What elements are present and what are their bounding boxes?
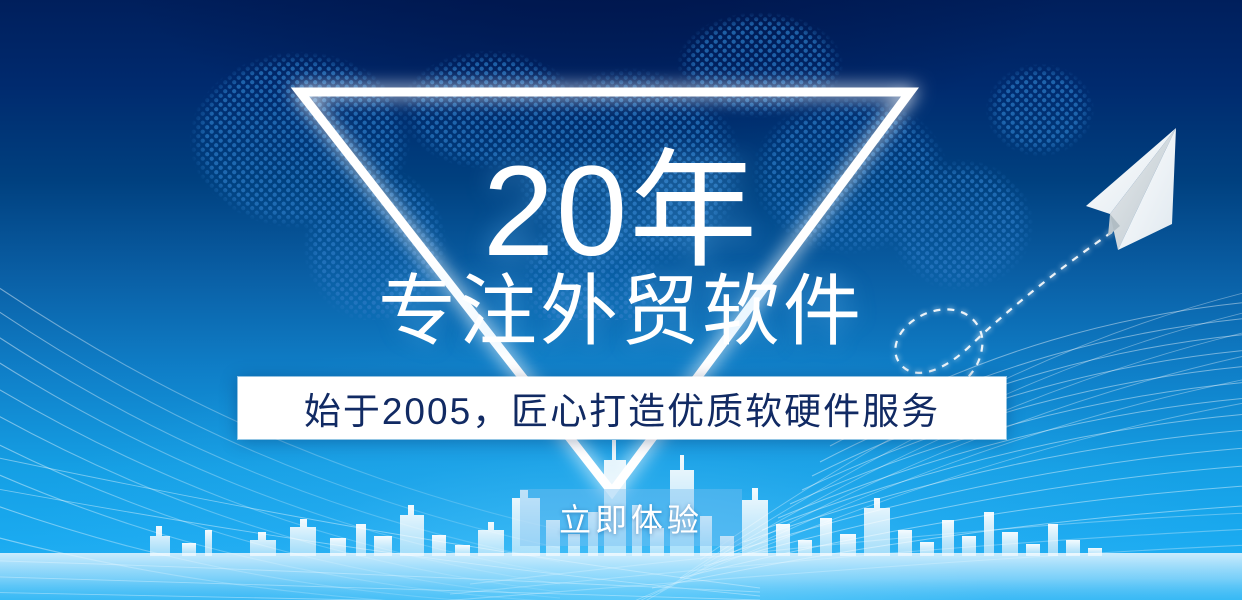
try-now-button-label: 立即体验 <box>559 495 703 541</box>
headline-subtitle: 专注外贸软件 <box>0 272 1242 350</box>
tagline-band: 始于2005，匠心打造优质软硬件服务 <box>238 377 1006 439</box>
tagline-text: 始于2005，匠心打造优质软硬件服务 <box>304 381 940 435</box>
hero-banner: 20年 专注外贸软件 始于2005，匠心打造优质软硬件服务 立即体验 <box>0 0 1242 600</box>
ground-plate <box>0 553 1242 600</box>
headline-year: 20年 <box>0 148 1242 276</box>
try-now-button[interactable]: 立即体验 <box>520 489 742 546</box>
